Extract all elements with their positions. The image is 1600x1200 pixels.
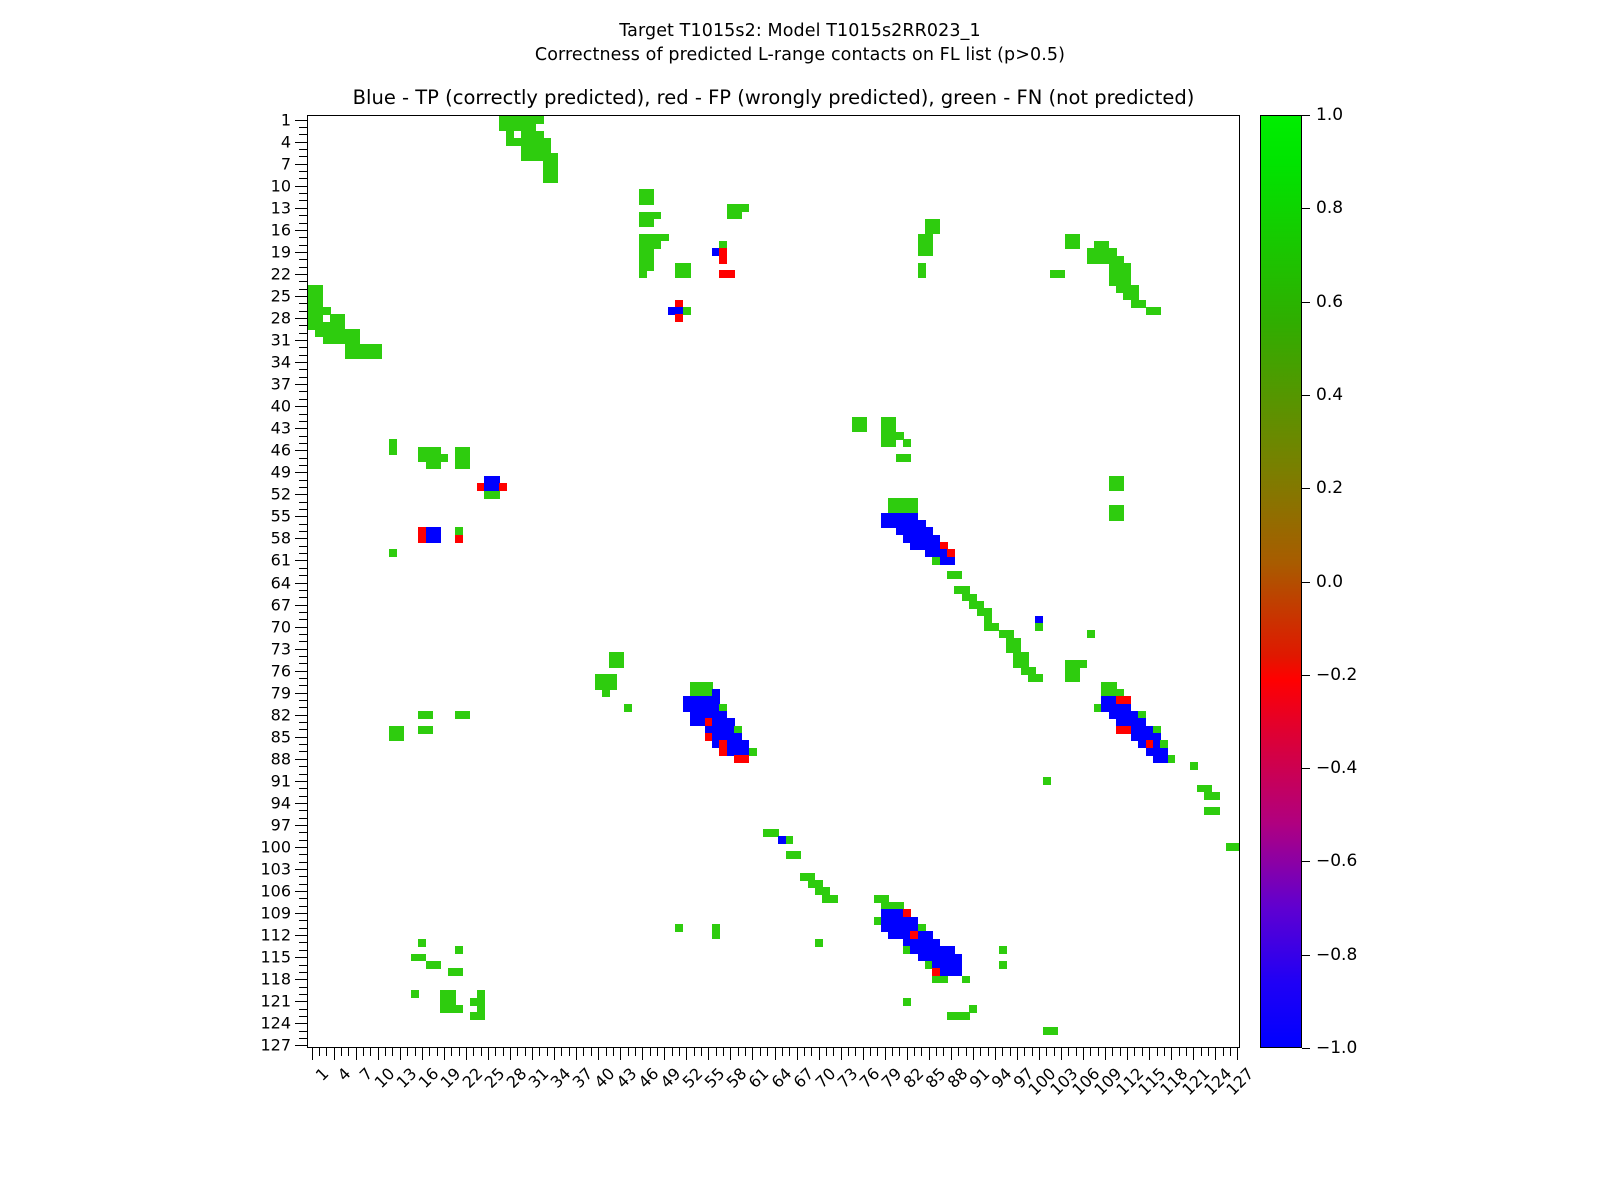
y-tick-label: 76 [271,661,291,680]
y-tick [295,671,308,672]
x-tick [341,1047,342,1056]
y-tick-label: 40 [271,397,291,416]
contact-cell [1087,630,1095,638]
x-tick [1046,1047,1047,1056]
y-tick [299,502,308,503]
x-tick [833,1047,834,1056]
y-tick [299,134,308,135]
x-tick [907,1047,908,1060]
y-tick [295,164,308,165]
contact-map-plot: 1471013161922252831343740434649525558616… [307,115,1240,1048]
x-tick [855,1047,856,1056]
legend-description: Blue - TP (correctly predicted), red - F… [307,86,1240,109]
contact-cell [962,1012,970,1020]
x-tick [392,1047,393,1056]
colorbar-tick-label: −0.6 [1316,851,1357,871]
x-tick [583,1047,584,1056]
x-tick [1127,1047,1128,1060]
x-tick [738,1047,739,1056]
x-tick [628,1047,629,1056]
x-tick [370,1047,371,1056]
x-tick [422,1047,423,1060]
x-tick [1017,1047,1018,1060]
contact-cell [675,924,683,932]
x-tick [385,1047,386,1056]
y-tick [299,876,308,877]
x-tick [620,1047,621,1060]
x-tick [708,1047,709,1060]
y-tick [299,325,308,326]
x-tick [1208,1047,1209,1056]
x-tick [312,1047,313,1060]
y-tick-label: 4 [281,132,291,151]
x-tick [988,1047,989,1056]
x-tick [495,1047,496,1056]
contact-cell [492,491,500,499]
x-tick [606,1047,607,1056]
x-tick [819,1047,820,1060]
y-tick [295,737,308,738]
contact-cell [719,256,727,264]
y-tick-label: 106 [260,882,291,901]
contact-cell [1212,807,1220,815]
colorbar-tick-label: −1.0 [1316,1038,1357,1058]
x-tick [686,1047,687,1060]
y-tick [299,810,308,811]
y-tick-label: 67 [271,595,291,614]
y-tick [299,436,308,437]
x-tick [356,1047,357,1060]
y-tick [299,333,308,334]
colorbar-tick [1302,582,1310,583]
y-tick [299,487,308,488]
y-tick [299,597,308,598]
contact-cell [918,270,926,278]
y-tick [299,553,308,554]
contact-cell [624,704,632,712]
y-tick [299,994,308,995]
contact-cell [1079,660,1087,668]
colorbar-tick-label: 0.2 [1316,478,1343,498]
contact-cell [1168,755,1176,763]
x-tick-label: 1 [311,1064,332,1085]
contact-cell [609,682,617,690]
x-tick [334,1047,335,1060]
y-tick-label: 64 [271,573,291,592]
x-tick [1179,1047,1180,1056]
y-tick [299,862,308,863]
x-tick [848,1047,849,1056]
x-tick [400,1047,401,1060]
x-tick [672,1047,673,1056]
y-tick-label: 10 [271,176,291,195]
contact-cell [426,726,434,734]
x-tick [473,1047,474,1056]
y-tick [299,193,308,194]
colorbar-tick-label: 0.4 [1316,385,1343,405]
y-tick [299,729,308,730]
y-tick [299,751,308,752]
y-tick [299,223,308,224]
contact-cell [1050,1027,1058,1035]
contact-cell [815,939,823,947]
y-tick [299,531,308,532]
y-tick [299,245,308,246]
y-tick [295,274,308,275]
x-tick [613,1047,614,1056]
contact-cell [455,946,463,954]
y-tick-label: 13 [271,198,291,217]
contact-cell [433,535,441,543]
y-tick-label: 58 [271,529,291,548]
y-tick [299,281,308,282]
y-tick-label: 28 [271,309,291,328]
contact-cell [389,549,397,557]
x-tick [966,1047,967,1056]
colorbar-tick [1302,208,1310,209]
y-tick [299,774,308,775]
contact-cell [712,931,720,939]
contact-cell [653,212,661,220]
y-tick [299,920,308,921]
contact-cell [962,976,970,984]
contact-cell [617,660,625,668]
colorbar-tick [1302,1048,1310,1049]
x-tick [1068,1047,1069,1056]
title-line-1: Target T1015s2: Model T1015s2RR023_1 [0,20,1600,44]
contact-cell [888,439,896,447]
x-tick [980,1047,981,1056]
x-tick [561,1047,562,1056]
y-tick [299,700,308,701]
y-tick [299,421,308,422]
contact-cell [947,557,955,565]
x-tick [943,1047,944,1056]
y-tick-label: 112 [260,926,291,945]
y-tick-label: 22 [271,264,291,283]
contact-cell [462,711,470,719]
y-tick [299,355,308,356]
y-tick [295,186,308,187]
contact-cell [903,454,911,462]
y-tick-label: 109 [260,904,291,923]
x-tick [1024,1047,1025,1056]
y-tick [299,259,308,260]
y-tick-label: 1 [281,110,291,129]
x-tick [1186,1047,1187,1056]
y-tick-label: 103 [260,860,291,879]
contact-cell [727,270,735,278]
x-tick [657,1047,658,1056]
contact-cell [550,175,558,183]
y-tick [299,744,308,745]
x-tick [877,1047,878,1056]
y-tick [299,171,308,172]
y-tick-label: 124 [260,1014,291,1033]
contact-cell [646,263,654,271]
x-tick [517,1047,518,1056]
contact-cell [653,241,661,249]
x-tick [488,1047,489,1060]
y-tick [299,347,308,348]
y-tick-label: 7 [281,154,291,173]
y-tick [295,1045,308,1046]
x-tick [664,1047,665,1060]
y-tick [295,538,308,539]
contact-cell [734,212,742,220]
y-tick [299,546,308,547]
x-tick [1120,1047,1121,1056]
y-tick [295,516,308,517]
x-tick [348,1047,349,1056]
contact-cell [675,314,683,322]
colorbar-tick-label: 0.8 [1316,198,1343,218]
y-tick [299,237,308,238]
x-tick [767,1047,768,1056]
x-tick [1237,1047,1238,1060]
x-tick [319,1047,320,1056]
y-tick [299,369,308,370]
x-tick [936,1047,937,1056]
contact-cell [1116,513,1124,521]
y-tick [299,267,308,268]
contact-cell [418,939,426,947]
x-tick [921,1047,922,1056]
y-tick-label: 100 [260,837,291,856]
contact-cell [683,307,691,315]
y-tick-label: 16 [271,220,291,239]
contact-cell [1035,674,1043,682]
contact-cell [440,454,448,462]
y-tick [295,296,308,297]
y-tick [299,612,308,613]
x-tick [826,1047,827,1056]
y-tick [299,215,308,216]
x-tick [1157,1047,1158,1056]
x-tick [1083,1047,1084,1060]
contact-cell [455,535,463,543]
x-tick [459,1047,460,1056]
contact-cell [661,234,669,242]
y-tick [295,627,308,628]
y-tick [295,142,308,143]
x-tick [841,1047,842,1060]
x-tick [554,1047,555,1060]
contact-cell [903,998,911,1006]
x-tick [1223,1047,1224,1056]
contact-cell [793,851,801,859]
colorbar-tick [1302,395,1310,396]
x-tick [951,1047,952,1060]
contact-cell [1190,762,1198,770]
x-tick [1010,1047,1011,1056]
contact-cell [999,961,1007,969]
y-tick [299,1009,308,1010]
y-tick-label: 46 [271,441,291,460]
contact-cell [830,895,838,903]
x-tick [1201,1047,1202,1056]
x-tick [429,1047,430,1056]
x-tick [326,1047,327,1056]
x-tick [635,1047,636,1056]
y-tick [299,311,308,312]
y-tick [299,1031,308,1032]
x-tick [1171,1047,1172,1060]
contact-cell [903,439,911,447]
x-tick [1230,1047,1231,1056]
contact-cell [433,961,441,969]
y-tick [299,1038,308,1039]
contact-cell [1072,241,1080,249]
contact-cell [1116,483,1124,491]
y-tick-label: 70 [271,617,291,636]
x-tick [1164,1047,1165,1056]
y-tick-label: 79 [271,683,291,702]
y-tick [299,950,308,951]
y-tick [295,583,308,584]
contact-cell [602,689,610,697]
figure-title: Target T1015s2: Model T1015s2RR023_1 Cor… [0,20,1600,67]
contact-cell [741,204,749,212]
x-tick [1002,1047,1003,1056]
y-tick-label: 118 [260,970,291,989]
contact-cell [1072,674,1080,682]
y-tick-label: 82 [271,705,291,724]
y-tick [295,869,308,870]
x-tick [899,1047,900,1056]
y-tick [295,472,308,473]
contact-cell [389,447,397,455]
contact-cell [455,1005,463,1013]
contact-cell [786,836,794,844]
y-tick [295,1001,308,1002]
y-tick [299,987,308,988]
y-tick-label: 61 [271,551,291,570]
contact-cell [1035,623,1043,631]
x-tick [716,1047,717,1056]
contact-cell [969,1005,977,1013]
y-tick [299,480,308,481]
contact-cell [1043,777,1051,785]
y-tick [299,568,308,569]
x-tick [679,1047,680,1056]
contact-cell [433,461,441,469]
contact-cell [999,946,1007,954]
x-tick [503,1047,504,1056]
y-tick [299,156,308,157]
x-tick [811,1047,812,1056]
x-tick [973,1047,974,1060]
y-tick [295,979,308,980]
colorbar-tick [1302,955,1310,956]
y-tick [295,208,308,209]
y-tick [299,127,308,128]
y-tick [299,575,308,576]
y-tick [299,972,308,973]
contact-cell [741,755,749,763]
y-tick-label: 37 [271,375,291,394]
y-tick [299,458,308,459]
x-tick [532,1047,533,1060]
y-tick [299,685,308,686]
y-tick [299,942,308,943]
x-tick [1039,1047,1040,1060]
y-tick [299,178,308,179]
y-tick [299,200,308,201]
y-tick [295,252,308,253]
y-tick [295,384,308,385]
x-tick [363,1047,364,1056]
x-tick [576,1047,577,1060]
x-tick [1112,1047,1113,1056]
y-tick [299,766,308,767]
x-tick [598,1047,599,1060]
contact-cell [932,226,940,234]
contact-cell [1057,270,1065,278]
x-tick [1076,1047,1077,1056]
colorbar-tick [1302,302,1310,303]
y-tick [299,840,308,841]
y-tick [295,494,308,495]
x-tick [797,1047,798,1060]
y-tick-label: 31 [271,331,291,350]
y-tick-label: 25 [271,286,291,305]
y-tick [295,649,308,650]
colorbar-gradient [1260,115,1302,1048]
x-tick [539,1047,540,1056]
y-tick [299,884,308,885]
y-tick [299,656,308,657]
colorbar-tick [1302,115,1310,116]
y-tick [295,406,308,407]
title-line-2: Correctness of predicted L-range contact… [0,44,1600,68]
x-tick [782,1047,783,1056]
x-tick [481,1047,482,1056]
x-tick [591,1047,592,1056]
y-tick-label: 94 [271,793,291,812]
x-tick [415,1047,416,1056]
y-tick [299,898,308,899]
contact-cell [374,351,382,359]
contact-cell [477,1012,485,1020]
y-tick [295,891,308,892]
y-tick [299,391,308,392]
contact-cell [646,197,654,205]
y-tick [299,509,308,510]
x-tick [642,1047,643,1060]
y-tick-label: 88 [271,749,291,768]
y-tick [295,759,308,760]
y-tick [295,340,308,341]
x-tick [730,1047,731,1060]
x-tick [547,1047,548,1056]
y-tick-label: 55 [271,507,291,526]
contact-cell [940,976,948,984]
y-tick [295,230,308,231]
y-tick-label: 85 [271,727,291,746]
x-tick [650,1047,651,1056]
y-tick [299,303,308,304]
y-tick [299,641,308,642]
y-tick [299,377,308,378]
x-tick [914,1047,915,1056]
colorbar-tick-label: 1.0 [1316,105,1343,125]
y-tick-label: 97 [271,815,291,834]
y-tick [299,149,308,150]
contact-cell [1212,792,1220,800]
y-tick [299,465,308,466]
x-tick [775,1047,776,1060]
